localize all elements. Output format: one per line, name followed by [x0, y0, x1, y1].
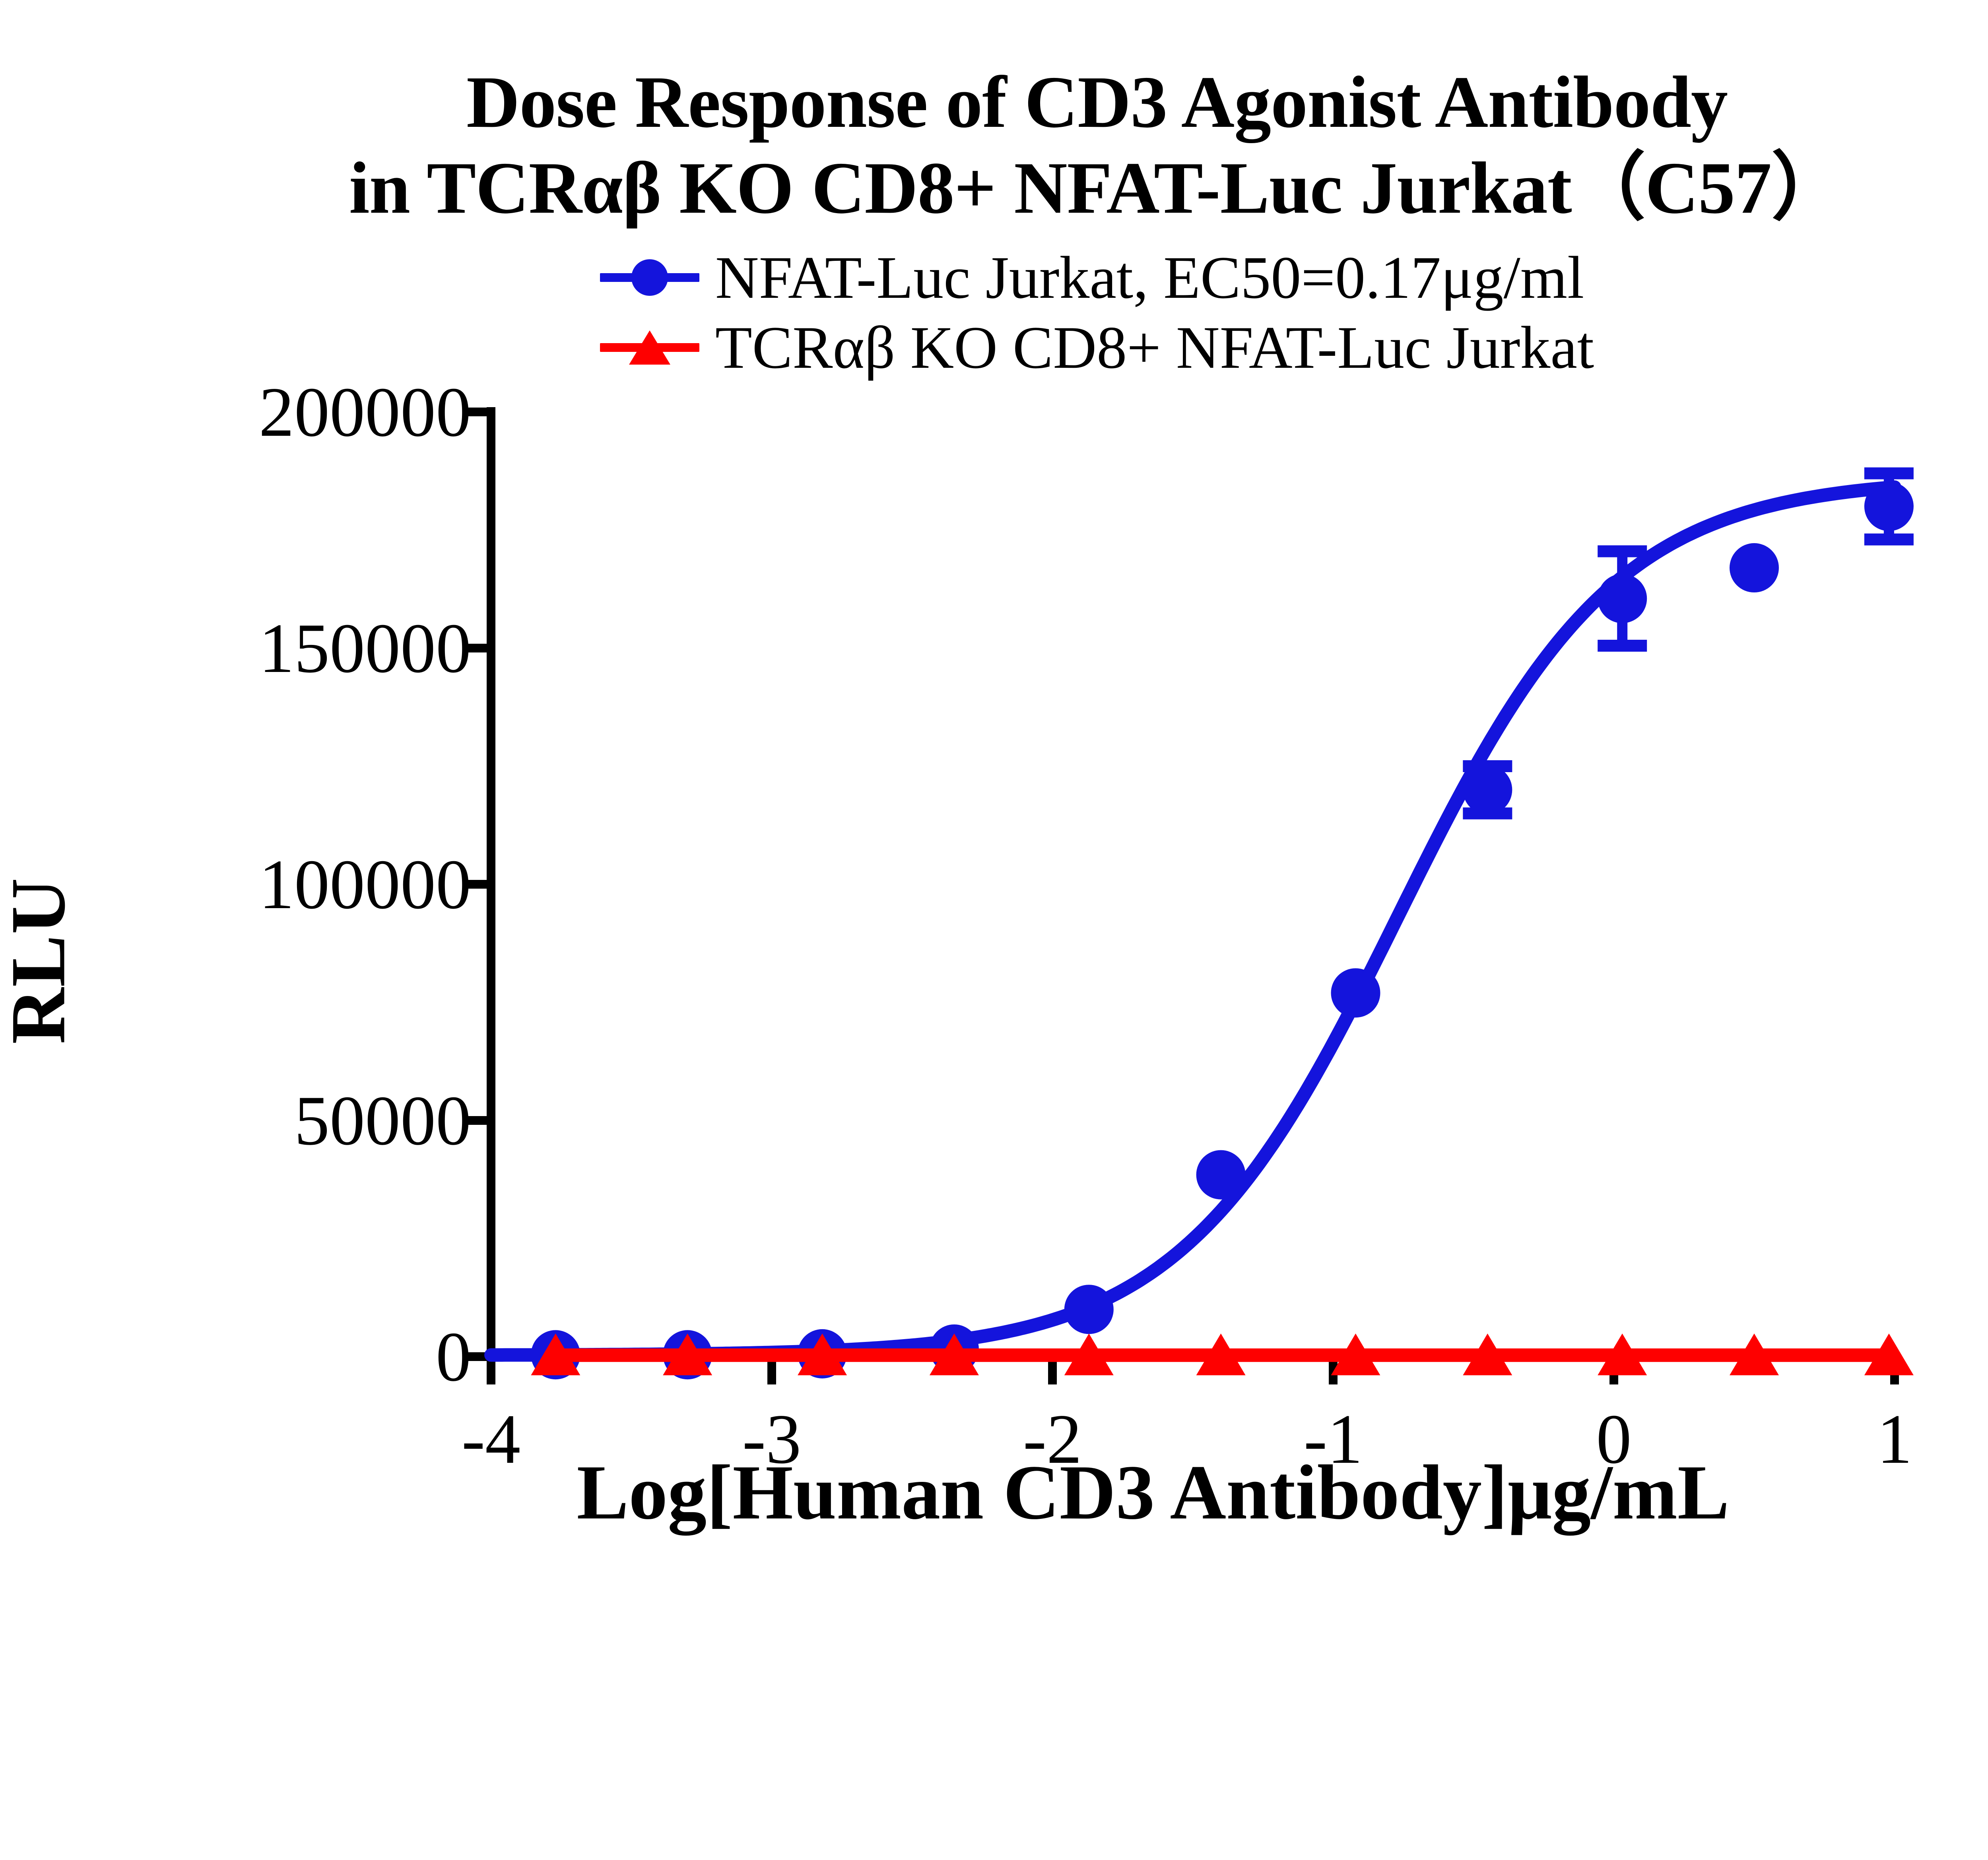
- legend-marker-triangle-icon: [600, 334, 699, 361]
- legend-item-label: NFAT-Luc Jurkat, EC50=0.17μg/ml: [715, 247, 1584, 308]
- legend: NFAT-Luc Jurkat, EC50=0.17μg/ml TCRαβ KO…: [600, 247, 1594, 378]
- legend-item-tcr-ko-cd8[interactable]: TCRαβ KO CD8+ NFAT-Luc Jurkat: [600, 317, 1594, 378]
- chart-title: Dose Response of CD3 Agonist Antibody in…: [349, 60, 1845, 231]
- data-point-marker-circle[interactable]: [1598, 574, 1647, 623]
- data-point-marker-circle[interactable]: [1463, 765, 1512, 814]
- data-point-marker-circle[interactable]: [1730, 543, 1779, 592]
- chart-title-line-1: Dose Response of CD3 Agonist Antibody: [349, 60, 1845, 146]
- axis-lines: [463, 407, 1898, 1384]
- data-series-layer: [491, 473, 1914, 1379]
- legend-item-label: TCRαβ KO CD8+ NFAT-Luc Jurkat: [715, 317, 1594, 378]
- legend-item-nfat-luc-jurkat[interactable]: NFAT-Luc Jurkat, EC50=0.17μg/ml: [600, 247, 1584, 308]
- plot-area: RLU 0 50000 100000 150000 200000 -4 -3 -…: [0, 392, 1988, 1513]
- data-point-marker-circle[interactable]: [1196, 1150, 1246, 1199]
- series-line-0: [491, 487, 1895, 1355]
- plot-canvas: [0, 392, 1988, 1513]
- legend-marker-circle-icon: [600, 264, 699, 291]
- data-point-marker-circle[interactable]: [1331, 968, 1380, 1017]
- data-point-marker-circle[interactable]: [1864, 482, 1914, 531]
- chart-title-line-2: in TCRαβ KO CD8+ NFAT-Luc Jurkat（C57）: [349, 146, 1845, 231]
- figure-root: Dose Response of CD3 Agonist Antibody in…: [0, 0, 1988, 1860]
- data-point-marker-circle[interactable]: [1064, 1285, 1114, 1334]
